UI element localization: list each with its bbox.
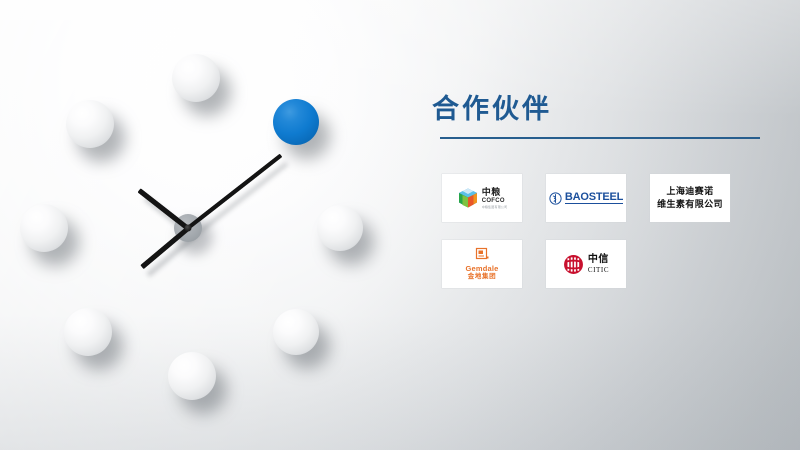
marker-7-surface xyxy=(66,100,114,148)
partner-card-citic[interactable]: 中信 CITIC xyxy=(546,240,626,288)
citic-en-text: CITIC xyxy=(588,267,609,274)
marker-6 xyxy=(20,204,68,252)
citic-emblem-icon xyxy=(563,254,584,275)
page-title: 合作伙伴 xyxy=(432,92,552,126)
marker-2 xyxy=(317,205,363,251)
partners-panel: 合作伙伴 中粮 COFCO xyxy=(430,92,770,312)
gemdale-wordmark: Gemdale xyxy=(465,265,498,273)
slide-canvas: 合作伙伴 中粮 COFCO xyxy=(0,0,800,450)
marker-1 xyxy=(273,99,319,145)
partner-card-baosteel[interactable]: BAOSTEEL xyxy=(546,174,626,222)
gemdale-cn-text: 金地集团 xyxy=(468,274,496,281)
marker-5-surface xyxy=(64,308,112,356)
cofco-cn-text: 中粮 xyxy=(482,188,501,197)
marker-3-surface xyxy=(273,309,319,355)
hour-hand-overlay xyxy=(138,188,190,230)
baosteel-emblem-icon xyxy=(549,192,562,205)
partner-card-cofco[interactable]: 中粮 COFCO 中粮集团有限公司 xyxy=(442,174,522,222)
citic-cn-text: 中信 xyxy=(588,255,609,265)
partner-card-gemdale[interactable]: Gemdale 金地集团 xyxy=(442,240,522,288)
wall-clock-photo xyxy=(0,0,400,450)
marker-2-surface xyxy=(317,205,363,251)
marker-7 xyxy=(66,100,114,148)
marker-12-surface xyxy=(172,54,220,102)
marker-3 xyxy=(273,309,319,355)
marker-4 xyxy=(168,352,216,400)
title-underline-rule xyxy=(440,137,760,139)
disano-line-1: 上海迪赛诺 xyxy=(657,185,723,198)
cofco-cube-icon xyxy=(457,187,479,209)
clock-center-pin xyxy=(185,225,192,232)
marker-6-surface xyxy=(20,204,68,252)
minute-hand-shadow xyxy=(193,162,288,238)
gemdale-square-icon xyxy=(475,247,490,262)
partner-card-disano[interactable]: 上海迪赛诺 维生素有限公司 xyxy=(650,174,730,222)
partner-logo-grid: 中粮 COFCO 中粮集团有限公司 BAOSTEEL xyxy=(442,174,770,288)
marker-4-surface xyxy=(168,352,216,400)
minute-hand-overlay xyxy=(187,154,282,230)
cofco-tagline: 中粮集团有限公司 xyxy=(482,206,508,209)
marker-5 xyxy=(64,308,112,356)
disano-line-2: 维生素有限公司 xyxy=(657,198,723,211)
baosteel-wordmark: BAOSTEEL xyxy=(565,192,623,205)
marker-1-surface xyxy=(273,99,319,145)
partner-card-empty-slot xyxy=(650,240,730,288)
marker-12 xyxy=(172,54,220,102)
cofco-en-text: COFCO xyxy=(482,198,505,204)
